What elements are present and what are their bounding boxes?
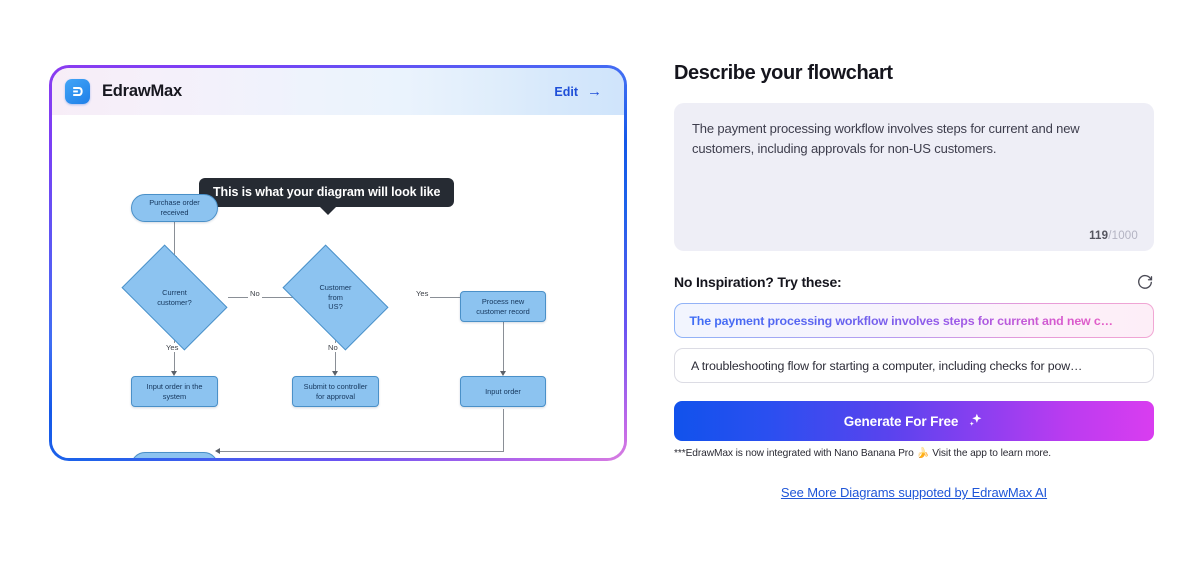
node-label: Submit to controller for approval [304,382,368,402]
edrawmax-logo-icon [65,79,90,104]
edge-label-no-2: No [326,343,340,352]
suggestion-item-1[interactable]: A troubleshooting flow for starting a co… [674,348,1154,383]
diagram-preview-card: EdrawMax Edit → This is what your diagra… [49,65,627,461]
node-label: Input order in the system [147,382,203,402]
inspiration-header: No Inspiration? Try these: [674,273,1154,291]
prompt-textarea[interactable]: The payment processing workflow involves… [674,103,1154,251]
node-label: Current customer? [157,288,192,308]
tooltip-text: This is what your diagram will look like [213,185,440,199]
footer-note-tail: Visit the app to learn more. [932,448,1051,459]
char-used: 119 [1089,230,1108,242]
prompt-value: The payment processing workflow involves… [692,119,1136,159]
node-input-order-in-the-system[interactable]: Input order in the system [131,376,218,407]
edit-label: Edit [554,85,578,99]
node-process-new-customer-record[interactable]: Process new customer record [460,291,546,322]
suggestion-text: A troubleshooting flow for starting a co… [691,359,1082,373]
diagram-canvas: This is what your diagram will look like… [52,115,624,458]
see-more-diagrams-link[interactable]: See More Diagrams suppoted by EdrawMax A… [674,485,1154,500]
edge-input-down [503,409,504,452]
tooltip-arrow-icon [319,206,337,215]
preview-header-bar: EdrawMax Edit → [52,68,624,115]
footer-note-text: ***EdrawMax is now integrated with Nano … [674,448,914,459]
footer-note: ***EdrawMax is now integrated with Nano … [674,448,1154,459]
suggestion-item-0[interactable]: The payment processing workflow involves… [674,303,1154,338]
edit-button[interactable]: Edit → [554,84,602,99]
node-label: Input order [485,387,521,397]
edge-process-new-to-input [503,315,504,373]
node-current-customer[interactable]: Current customer? [130,267,219,328]
node-customer-from-us[interactable]: Customer from US? [291,267,380,328]
brand-name: EdrawMax [102,82,182,101]
character-counter: 119/1000 [1089,230,1138,242]
node-purchase-order-received[interactable]: Purchase order received [131,194,218,222]
refresh-icon[interactable] [1136,273,1154,291]
edge-po-to-current [174,221,175,258]
describe-flowchart-panel: Describe your flowchart The payment proc… [674,62,1154,500]
char-max: /1000 [1108,230,1138,242]
node-label: Process new customer record [476,297,529,317]
node-process-order[interactable]: Process Order [131,452,218,458]
preview-inner: EdrawMax Edit → This is what your diagra… [52,68,624,458]
node-label: Purchase order received [149,198,200,218]
node-label: Customer from US? [319,283,351,312]
arrowhead-icon [215,448,220,454]
edge-label-no-1: No [248,289,262,298]
node-submit-to-controller-for-approval[interactable]: Submit to controller for approval [292,376,379,407]
page-title: Describe your flowchart [674,62,1154,85]
diagram-tooltip: This is what your diagram will look like [199,178,454,207]
edge-input-to-process-order [218,451,504,452]
generate-label: Generate For Free [844,414,959,429]
suggestion-text: The payment processing workflow involves… [689,314,1112,328]
sparkle-icon [967,411,984,431]
edge-label-yes-2: Yes [414,289,430,298]
suggestion-inner: The payment processing workflow involves… [675,304,1152,336]
node-input-order[interactable]: Input order [460,376,546,407]
generate-for-free-button[interactable]: Generate For Free [674,401,1154,441]
arrow-right-icon: → [587,84,602,99]
inspiration-label: No Inspiration? Try these: [674,274,842,290]
banana-icon: 🍌 [917,448,930,459]
